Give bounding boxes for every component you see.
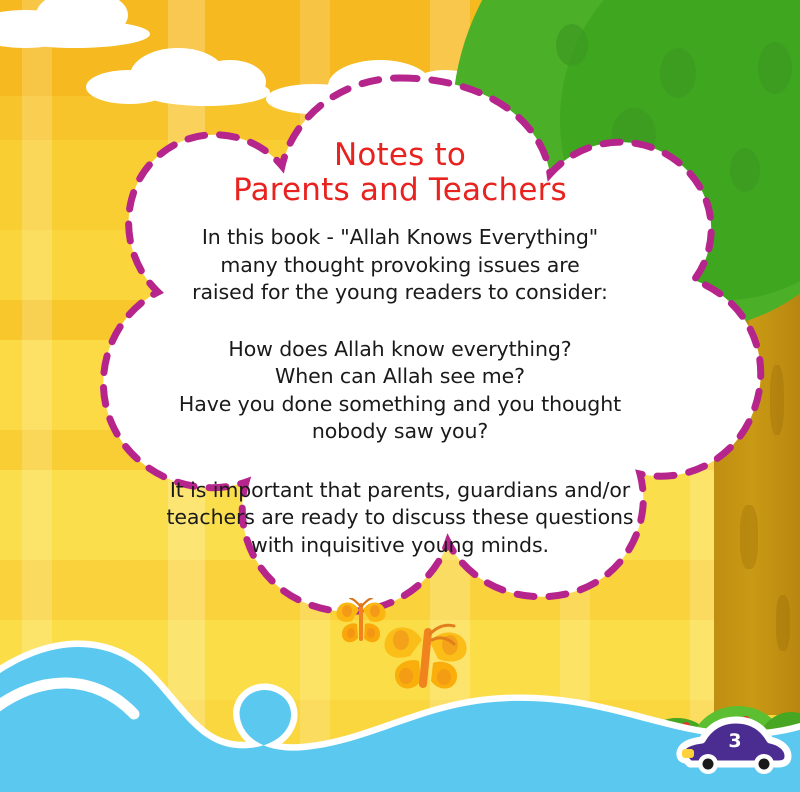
sky-cloud-corner — [0, 0, 160, 50]
butterfly-decoration — [330, 598, 480, 693]
book-page: Notes to Parents and Teachers In this bo… — [0, 0, 800, 792]
page-number-badge: 3 — [676, 716, 794, 778]
butterfly-large-icon — [378, 618, 478, 698]
car-icon — [676, 716, 794, 778]
leaf-spot-icon — [556, 24, 588, 66]
